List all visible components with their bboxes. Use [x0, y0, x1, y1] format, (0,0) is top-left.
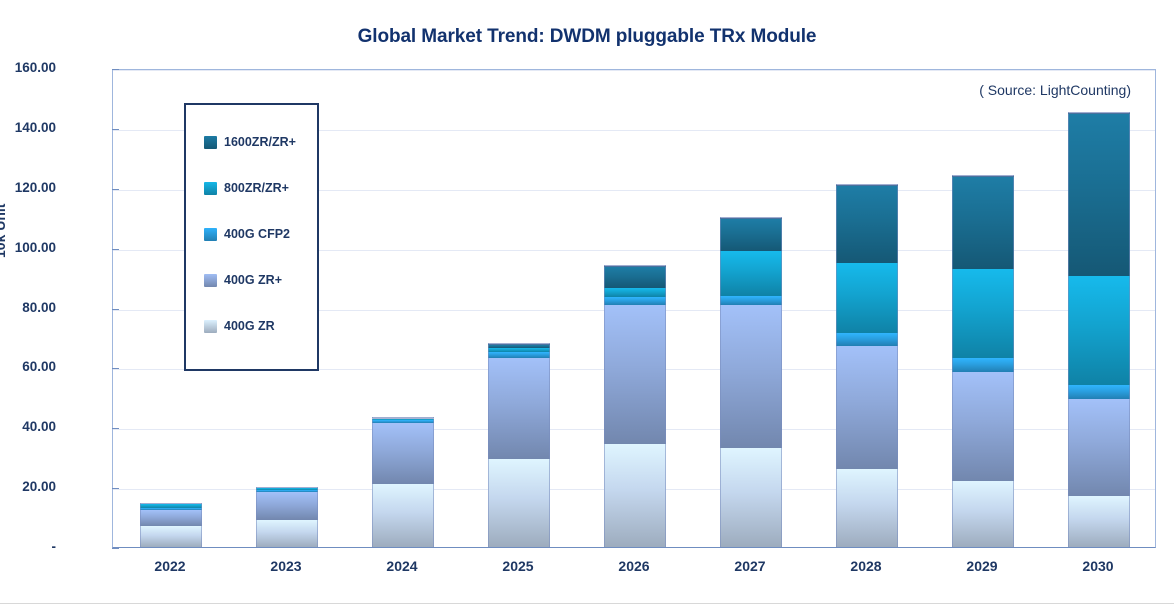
legend-item-label: 400G ZR	[224, 319, 275, 333]
y-axis-tick-mark	[112, 368, 119, 369]
y-axis-tick-mark	[112, 69, 119, 70]
legend-swatch-icon	[204, 228, 217, 241]
legend-swatch-icon	[204, 136, 217, 149]
x-axis-tick-label: 2027	[700, 558, 800, 574]
bar-segment	[372, 418, 434, 419]
bar-segment	[1068, 385, 1130, 398]
y-axis-tick-label: -	[0, 539, 56, 554]
bar-segment	[952, 481, 1014, 547]
x-axis-tick-label: 2029	[932, 558, 1032, 574]
bar-segment	[720, 305, 782, 449]
y-axis-tick-mark	[112, 548, 119, 549]
bar-segment	[488, 352, 550, 358]
legend-item-label: 400G CFP2	[224, 227, 290, 241]
bar-segment	[488, 348, 550, 352]
bar-segment	[836, 469, 898, 547]
y-axis-tick-mark	[112, 249, 119, 250]
bar-segment	[488, 358, 550, 458]
bar-segment	[952, 358, 1014, 371]
bar-segment	[372, 420, 434, 422]
bar-segment	[256, 520, 318, 547]
legend-swatch-icon	[204, 320, 217, 333]
bar-segment	[720, 251, 782, 296]
legend-item[interactable]: 400G ZR	[204, 303, 317, 349]
bar-segment	[604, 297, 666, 304]
stacked-bar[interactable]	[488, 68, 550, 547]
y-axis-tick-mark	[112, 189, 119, 190]
x-axis-tick-label: 2030	[1048, 558, 1148, 574]
y-axis-tick-label: 40.00	[0, 419, 56, 434]
legend-swatch-icon	[204, 182, 217, 195]
legend-item-label: 400G ZR+	[224, 273, 282, 287]
bar-segment	[488, 344, 550, 348]
stacked-bar[interactable]	[952, 68, 1014, 547]
bar-top-cap	[140, 503, 202, 504]
bar-segment	[720, 218, 782, 251]
legend-item-label: 1600ZR/ZR+	[224, 135, 296, 149]
bar-top-cap	[720, 217, 782, 218]
stacked-bar[interactable]	[604, 68, 666, 547]
bar-segment	[836, 185, 898, 262]
x-axis-tick-label: 2023	[236, 558, 336, 574]
legend-item[interactable]: 400G ZR+	[204, 257, 317, 303]
y-axis-tick-label: 60.00	[0, 359, 56, 374]
bar-segment	[720, 296, 782, 305]
bar-segment	[372, 484, 434, 547]
bar-top-cap	[256, 487, 318, 488]
bar-segment	[1068, 113, 1130, 276]
stacked-bar[interactable]	[836, 68, 898, 547]
stacked-bar[interactable]	[720, 68, 782, 547]
x-axis-tick-label: 2025	[468, 558, 568, 574]
bar-segment	[952, 269, 1014, 359]
bar-segment	[836, 333, 898, 346]
bar-top-cap	[952, 175, 1014, 176]
legend-item-label: 800ZR/ZR+	[224, 181, 289, 195]
y-axis-tick-mark	[112, 488, 119, 489]
bar-segment	[256, 490, 318, 491]
y-axis-tick-label: 80.00	[0, 300, 56, 315]
bar-segment	[720, 448, 782, 547]
bar-segment	[140, 526, 202, 547]
bar-segment	[256, 488, 318, 490]
bottom-divider	[0, 603, 1174, 604]
y-axis-tick-mark	[112, 309, 119, 310]
y-axis-tick-label: 120.00	[0, 180, 56, 195]
legend-item[interactable]: 800ZR/ZR+	[204, 165, 317, 211]
plot-area: ( Source: LightCounting) 1600ZR/ZR+800ZR…	[112, 69, 1156, 548]
bar-top-cap	[604, 265, 666, 266]
bar-segment	[1068, 276, 1130, 385]
chart-title: Global Market Trend: DWDM pluggable TRx …	[0, 26, 1174, 48]
bar-segment	[604, 288, 666, 297]
legend-item[interactable]: 1600ZR/ZR+	[204, 119, 317, 165]
bar-segment	[604, 266, 666, 288]
bar-segment	[836, 263, 898, 333]
bar-segment	[256, 492, 318, 520]
y-axis-tick-label: 140.00	[0, 120, 56, 135]
bar-segment	[952, 176, 1014, 268]
legend-item[interactable]: 400G CFP2	[204, 211, 317, 257]
x-axis-tick-label: 2026	[584, 558, 684, 574]
bar-segment	[140, 510, 202, 526]
bar-segment	[1068, 399, 1130, 496]
y-axis-tick-label: 160.00	[0, 60, 56, 75]
stacked-bar[interactable]	[372, 68, 434, 547]
y-axis-tick-mark	[112, 428, 119, 429]
bar-segment	[372, 419, 434, 420]
bar-segment	[952, 372, 1014, 481]
y-axis-tick-label: 100.00	[0, 240, 56, 255]
x-axis-tick-label: 2024	[352, 558, 452, 574]
x-axis-tick-label: 2022	[120, 558, 220, 574]
bar-segment	[140, 508, 202, 510]
bar-top-cap	[372, 417, 434, 418]
chart-legend: 1600ZR/ZR+800ZR/ZR+400G CFP2400G ZR+400G…	[184, 103, 319, 371]
bar-segment	[836, 346, 898, 469]
bar-segment	[372, 423, 434, 484]
legend-swatch-icon	[204, 274, 217, 287]
bar-segment	[604, 444, 666, 547]
bar-segment	[604, 305, 666, 444]
bar-segment	[1068, 496, 1130, 547]
y-axis-tick-label: 20.00	[0, 479, 56, 494]
stacked-bar[interactable]	[1068, 68, 1130, 547]
bar-top-cap	[1068, 112, 1130, 113]
bar-segment	[140, 504, 202, 508]
y-axis-tick-mark	[112, 129, 119, 130]
bar-segment	[488, 459, 550, 547]
bar-top-cap	[488, 343, 550, 344]
bar-top-cap	[836, 184, 898, 185]
x-axis-tick-label: 2028	[816, 558, 916, 574]
